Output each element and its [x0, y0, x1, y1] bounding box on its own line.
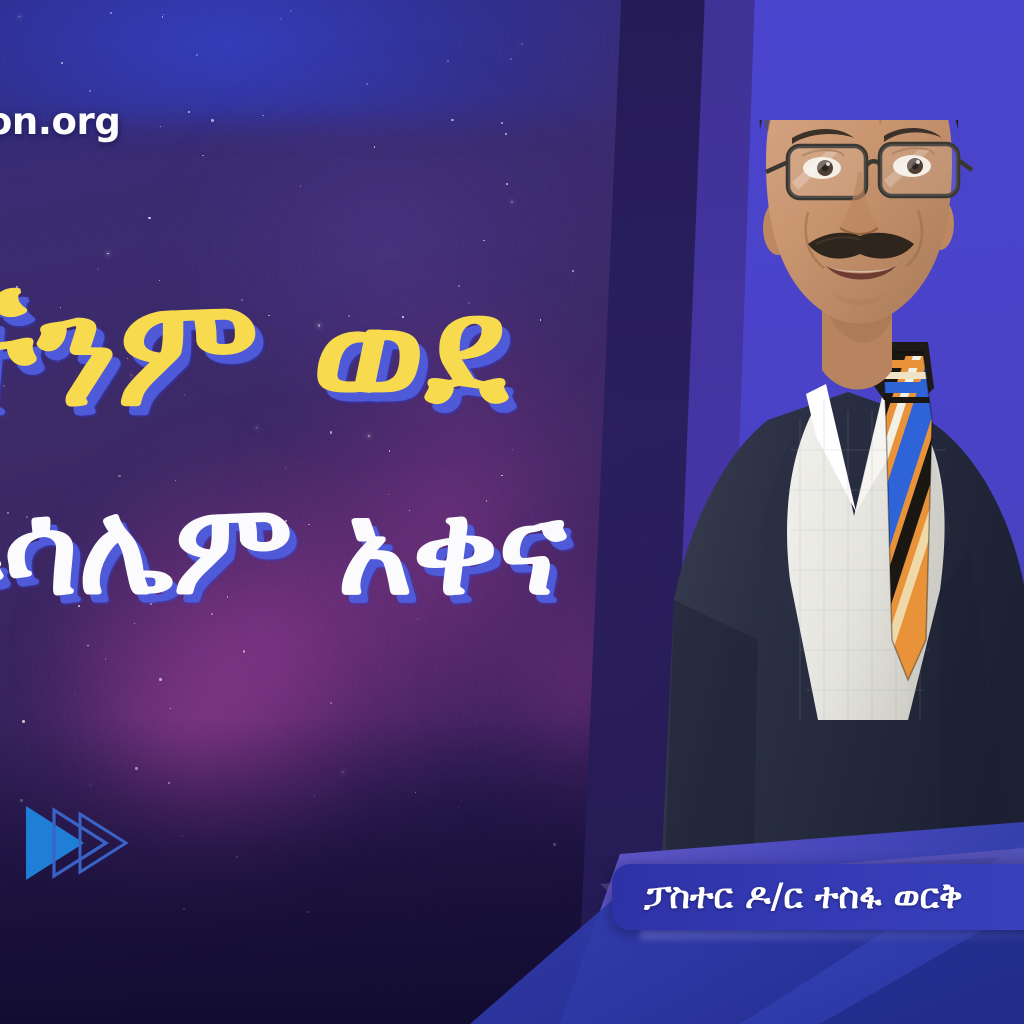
title-line-2: ሩሳሌም አቀና [0, 486, 750, 614]
speaker-caption-bar: ፓስተር ዶ/ር ተስፋ ወርቅ [612, 864, 1024, 930]
thumbnail-canvas: ston.org ችንም ወደ ሩሳሌም አቀና [0, 0, 1024, 1024]
head [760, 120, 972, 324]
title-block: ችንም ወደ ሩሳሌም አቀና [0, 276, 750, 614]
site-logo: ston.org [0, 100, 120, 143]
title-line-1: ችንም ወደ [0, 276, 750, 428]
speaker-name: ፓስተር ዶ/ር ተስፋ ወርቅ [612, 877, 963, 917]
